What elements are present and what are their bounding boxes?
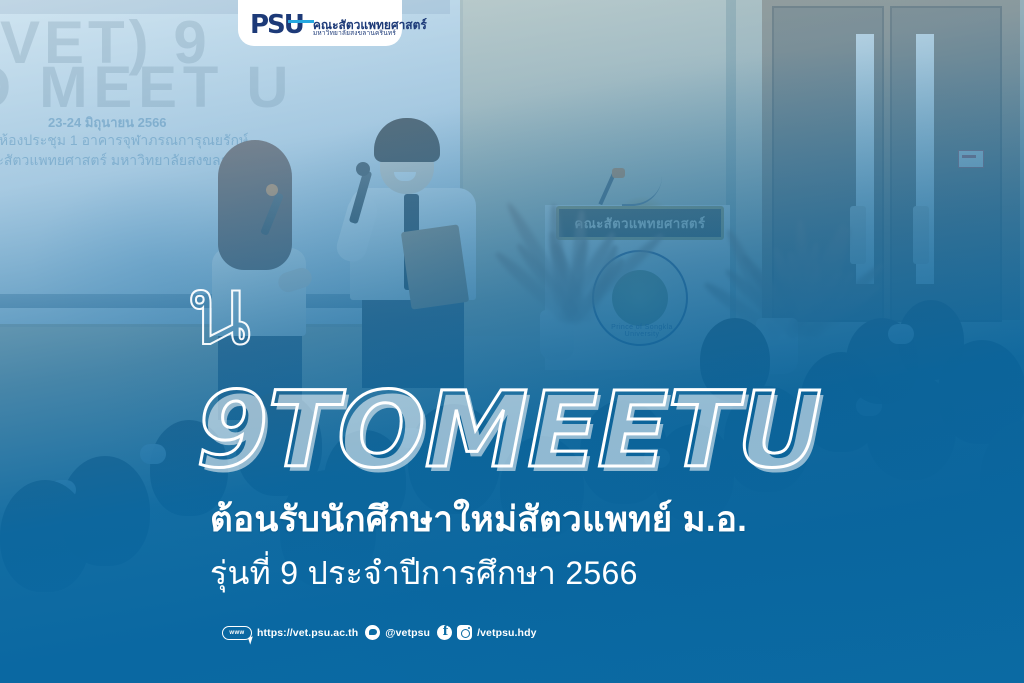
subtitle-line-1: ต้อนรับนักศึกษาใหม่สัตวแพทย์ ม.อ. [210, 492, 747, 547]
website-url: https://vet.psu.ac.th [257, 627, 358, 639]
line-icon [365, 625, 380, 640]
website-item[interactable]: www https://vet.psu.ac.th [222, 626, 358, 640]
psu-dash-icon [288, 20, 314, 23]
university-name-th: มหาวิทยาลัยสงขลานครินทร์ [313, 31, 427, 38]
cursor-icon [248, 636, 255, 644]
psu-thai-text: คณะสัตวแพทยศาสตร์ มหาวิทยาลัยสงขลานครินท… [313, 19, 427, 38]
www-globe-icon: www [222, 626, 252, 640]
psu-logo-plate: PSU คณะสัตวแพทยศาสตร์ มหาวิทยาลัยสงขลานค… [238, 0, 402, 46]
psu-wordmark: PSU [250, 12, 303, 38]
subtitle-line-2: รุ่นที่ 9 ประจำปีการศึกษา 2566 [210, 548, 638, 599]
line-id: @vetpsu [385, 627, 430, 639]
footer-contact-bar: www https://vet.psu.ac.th @vetpsu /vetps… [222, 625, 537, 640]
page-title: 9TOMEETU [196, 378, 821, 482]
www-label: www [229, 630, 244, 636]
decorative-thai-glyph: น [186, 268, 278, 360]
social-handle: /vetpsu.hdy [477, 627, 536, 639]
facebook-icon [437, 625, 452, 640]
instagram-icon [457, 625, 472, 640]
event-poster: (VET) 9 O MEET U 23-24 มิถุนายน 2566 ณ ห… [0, 0, 1024, 683]
line-item[interactable]: @vetpsu [365, 625, 430, 640]
social-item[interactable]: /vetpsu.hdy [437, 625, 536, 640]
